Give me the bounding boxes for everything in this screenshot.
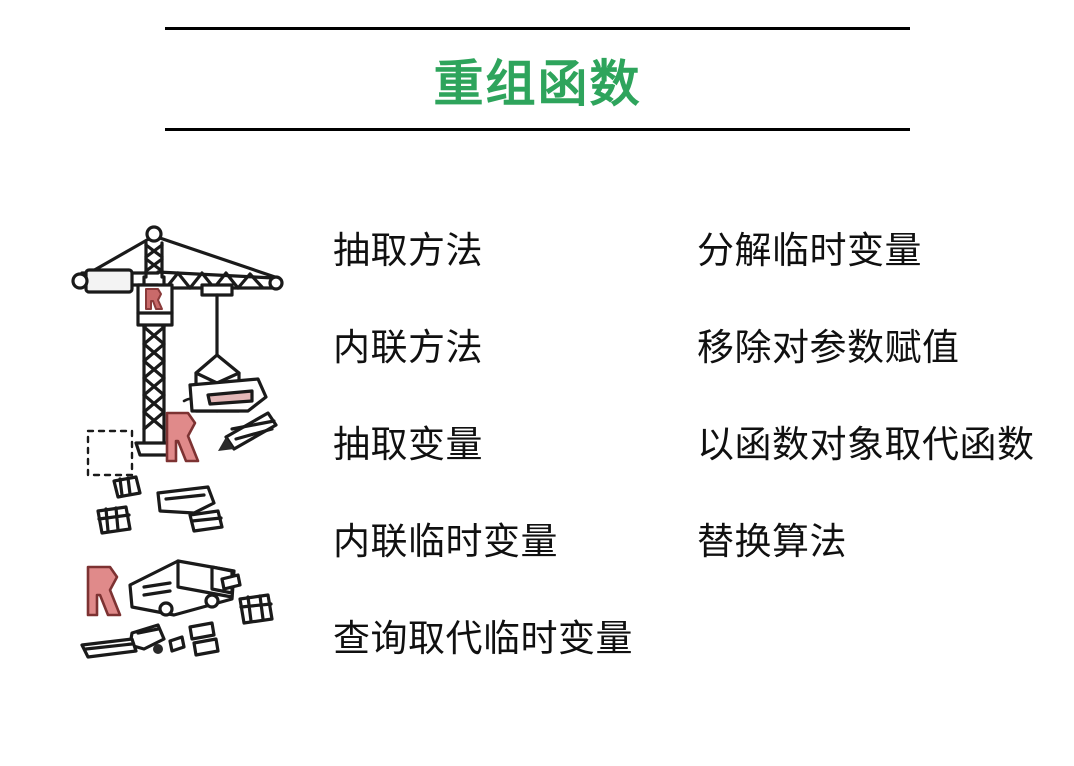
page-title: 重组函数	[165, 52, 910, 116]
list-item[interactable]: 移除对参数赋值	[697, 325, 1067, 422]
list-item-label: 抽取方法	[333, 228, 483, 274]
list-item-label: 分解临时变量	[697, 228, 922, 274]
construction-crane-sketch	[62, 215, 302, 660]
refactoring-list-left: 抽取方法 内联方法 抽取变量 内联临时变量 查询取代临时变量	[333, 228, 673, 713]
refactoring-list-right: 分解临时变量 移除对参数赋值 以函数对象取代函数 替换算法	[697, 228, 1067, 616]
list-item[interactable]: 分解临时变量	[697, 228, 1067, 325]
list-item-label: 内联临时变量	[333, 519, 558, 565]
slide-root: 重组函数	[0, 0, 1074, 766]
list-item-label: 内联方法	[333, 325, 483, 371]
list-item[interactable]: 抽取变量	[333, 422, 673, 519]
list-item-label: 查询取代临时变量	[333, 616, 633, 662]
list-item[interactable]: 以函数对象取代函数	[697, 422, 1067, 519]
crane-illustration-svg	[62, 215, 302, 660]
list-item-label: 抽取变量	[333, 422, 483, 468]
list-item-label: 移除对参数赋值	[697, 325, 960, 371]
list-item-label: 以函数对象取代函数	[697, 422, 1035, 468]
list-item[interactable]: 查询取代临时变量	[333, 616, 673, 713]
title-rule-top	[165, 27, 910, 30]
list-item[interactable]: 抽取方法	[333, 228, 673, 325]
list-item[interactable]: 内联临时变量	[333, 519, 673, 616]
title-rule-bottom	[165, 128, 910, 131]
list-item[interactable]: 内联方法	[333, 325, 673, 422]
list-item-label: 替换算法	[697, 519, 847, 565]
list-item[interactable]: 替换算法	[697, 519, 1067, 616]
